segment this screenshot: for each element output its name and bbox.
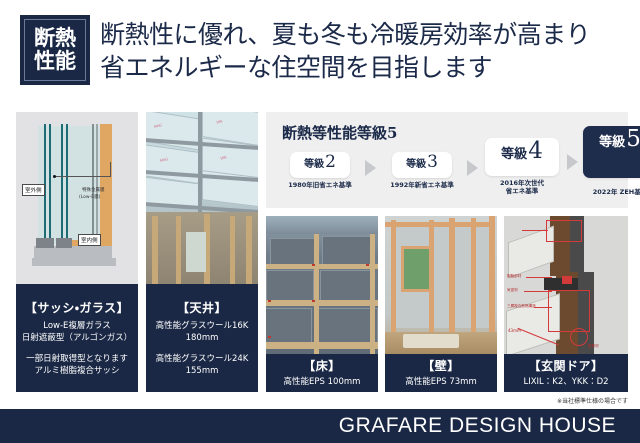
caption-floor: 【床】 高性能EPS 100mm <box>266 354 378 392</box>
entrance-door-diagram: 樹脂部材 気密材 三層複合断熱構造 43mm 断熱材 <box>504 216 628 354</box>
grade-chip-3: 等級 3 <box>392 152 452 178</box>
ceiling-photo-render: MAG 16K MAG 16K <box>146 112 258 284</box>
door-leader-resin <box>526 277 552 278</box>
floor-insulation-photo <box>266 216 378 354</box>
page-title: 断熱性に優れ、夏も冬も冷暖房効率が高まり 省エネルギーな住空間を目指します <box>100 18 630 84</box>
floor-slab-3 <box>266 270 314 302</box>
ceiling-joist-cross <box>198 112 202 212</box>
grade-arrow-1-icon <box>365 160 376 176</box>
brand-logo-text: GRAFARE DESIGN HOUSE <box>339 414 616 438</box>
caption-sash-glass: 【サッシ・ガラス】 Low-E複層ガラス日射遮蔽型（アルゴンガス） 一部日射取得… <box>16 284 138 392</box>
door-seal-block <box>544 278 578 290</box>
frame-hardware-1 <box>36 238 54 248</box>
ceiling-stud-2 <box>176 216 181 284</box>
grade-chip-4-number: 4 <box>528 138 543 164</box>
label-indoor-side: 室内側 <box>78 234 101 246</box>
grade-step-5: 等級 5 2022年 ZEH基準 <box>578 126 640 196</box>
floor-background-site <box>266 216 378 234</box>
grade-chip-5-number: 5 <box>626 126 640 152</box>
door-detail-box-bottom <box>548 290 590 332</box>
wall-photo-render <box>385 216 497 354</box>
wall-stud-3 <box>449 218 455 336</box>
card-ceiling: MAG 16K MAG 16K 【天井】 高性能グラスウール16K180mm 高… <box>146 112 258 392</box>
grade-step-3-caption: 1992年新省エネ基準 <box>380 181 464 189</box>
caption-floor-sub1: 高性能EPS 100mm <box>284 376 361 388</box>
floor-clip-3 <box>268 300 271 302</box>
grade-step-4: 等級 4 2016年次世代省エネ基準 <box>480 138 564 196</box>
grade-panel-title: 断熱等性能等級5 <box>282 122 397 143</box>
disclaimer-note: ※当社標準仕様の場合です <box>557 396 628 405</box>
grade-arrow-3-icon <box>567 154 578 170</box>
grade-step-5-caption: 2022年 ZEH基準 <box>578 188 640 196</box>
floor-clip-4 <box>268 336 271 338</box>
door-seal-marker <box>562 276 572 284</box>
label-lowe-coating: 特殊金属膜 <box>82 188 105 194</box>
caption-ceiling-title: 【天井】 <box>177 299 227 316</box>
ceiling-wall-patch <box>186 232 206 272</box>
caption-wall-title: 【壁】 <box>422 357 460 374</box>
card-floor: 【床】 高性能EPS 100mm <box>266 216 378 392</box>
page-header: 断熱 性能 断熱性に優れ、夏も冬も冷暖房効率が高まり 省エネルギーな住空間を目指… <box>0 0 640 98</box>
section-badge-line-2: 性能 <box>34 50 76 73</box>
coating-leader-vertical <box>110 162 111 177</box>
caption-ceiling: 【天井】 高性能グラスウール16K180mm 高性能グラスウール24K155mm <box>146 284 258 392</box>
page-footer: GRAFARE DESIGN HOUSE <box>0 409 640 443</box>
door-label-resin: 樹脂部材 <box>507 274 521 279</box>
wall-floor-sheet <box>403 334 459 348</box>
sash-cross-section-diagram: 室外側 室内側 特殊金属膜 (Low-E膜) <box>16 112 138 284</box>
caption-sash-title: 【サッシ・ガラス】 <box>25 299 129 316</box>
floor-clip-2 <box>312 300 315 302</box>
glass-pane-4 <box>66 124 68 246</box>
floor-beam-h3 <box>266 342 378 349</box>
section-badge-inner: 断熱 性能 <box>24 19 86 81</box>
wall-insulation-photo <box>385 216 497 354</box>
door-section-render: 樹脂部材 気密材 三層複合断熱構造 43mm 断熱材 <box>504 216 628 354</box>
headline-line-1: 断熱性に優れ、夏も冬も冷暖房効率が高まり <box>100 18 630 51</box>
grade-chip-2-number: 2 <box>325 152 336 172</box>
floor-slab-4 <box>320 270 374 302</box>
grade-chip-5-label: 等級 <box>599 131 625 150</box>
insulation-grade-panel: 断熱等性能等級5 等級 2 1980年旧省エネ基準 等級 3 1992年新省エネ… <box>266 112 628 208</box>
frame-base <box>32 258 116 266</box>
caption-door-sub1: LIXIL：K2、YKK：D2 <box>523 376 608 388</box>
door-label-airtight: 気密材 <box>507 288 518 293</box>
door-leader-triple <box>534 307 552 308</box>
headline-line-2: 省エネルギーな住空間を目指します <box>100 51 630 84</box>
grade-chip-5: 等級 5 <box>583 126 640 178</box>
floor-beam-h2 <box>266 300 378 306</box>
grade-step-2: 等級 2 1980年旧省エネ基準 <box>278 152 362 189</box>
wall-stud-4 <box>471 218 476 336</box>
coating-leader-line <box>56 176 110 177</box>
grade-step-4-caption: 2016年次世代省エネ基準 <box>480 179 564 196</box>
grade-chip-4-label: 等級 <box>501 143 527 162</box>
floor-slab-1 <box>270 238 316 266</box>
card-sash-glass: 室外側 室内側 特殊金属膜 (Low-E膜) 【サッシ・ガラス】 Low-E複層… <box>16 112 138 392</box>
grade-chip-2: 等級 2 <box>290 152 350 178</box>
caption-floor-title: 【床】 <box>303 357 341 374</box>
ceiling-insulation-photo: MAG 16K MAG 16K <box>146 112 258 284</box>
floor-slab-6 <box>318 308 378 344</box>
caption-entrance-door: 【玄関ドア】 LIXIL：K2、YKK：D2 <box>504 354 628 392</box>
label-lowe-coating-sub: (Low-E膜) <box>79 195 100 201</box>
ceiling-stud-5 <box>246 216 252 284</box>
floor-beam-v1 <box>314 234 319 354</box>
floor-beam-v2 <box>370 234 375 354</box>
wall-stud-2 <box>429 220 434 336</box>
wall-stud-5 <box>489 216 495 336</box>
glass-pane-6 <box>96 124 98 242</box>
section-badge-line-1: 断熱 <box>34 27 76 50</box>
caption-sash-sub1: Low-E複層ガラス日射遮蔽型（アルゴンガス） <box>22 320 132 345</box>
wall-stud-1 <box>391 220 396 336</box>
floor-slab-2 <box>322 236 372 266</box>
wall-top-plate <box>385 222 495 227</box>
caption-ceiling-sub1: 高性能グラスウール16K180mm <box>156 320 249 345</box>
ceiling-stud-4 <box>230 216 235 284</box>
grade-chip-2-label: 等級 <box>304 155 324 170</box>
section-badge: 断熱 性能 <box>20 15 90 85</box>
frame-hardware-2 <box>56 238 72 248</box>
door-leader-airtight <box>524 291 552 292</box>
window-section-drawing: 室外側 室内側 特殊金属膜 (Low-E膜) <box>16 112 138 284</box>
grade-arrow-2-icon <box>467 160 478 176</box>
floor-slab-5 <box>266 308 312 344</box>
caption-wall: 【壁】 高性能EPS 73mm <box>385 354 497 392</box>
door-label-triple: 三層複合断熱構造 <box>507 304 536 309</box>
door-detail-box-top <box>546 220 582 242</box>
caption-ceiling-sub2: 高性能グラスウール24K155mm <box>156 353 249 378</box>
grade-step-3: 等級 3 1992年新省エネ基準 <box>380 152 464 189</box>
card-wall: 【壁】 高性能EPS 73mm <box>385 216 497 392</box>
ceiling-stud-1 <box>152 216 158 284</box>
glass-pane-3 <box>61 124 63 246</box>
glass-pane-2 <box>49 124 51 246</box>
door-detail-circle <box>570 328 588 346</box>
glass-pane-5 <box>92 124 94 242</box>
floor-clip-5 <box>366 264 369 266</box>
floor-photo-render <box>266 216 378 354</box>
door-label-insulation: 断熱材 <box>588 344 599 349</box>
floor-beam-h1 <box>266 264 378 269</box>
resin-frame <box>100 124 112 246</box>
grade-chip-4: 等級 4 <box>485 138 559 176</box>
door-leader-top <box>522 230 548 231</box>
grade-chip-3-number: 3 <box>427 152 438 172</box>
floor-clip-1 <box>312 264 315 266</box>
grade-chip-3-label: 等級 <box>406 155 426 170</box>
card-entrance-door: 樹脂部材 気密材 三層複合断熱構造 43mm 断熱材 【玄関ドア】 LIXIL：… <box>504 216 628 392</box>
caption-door-title: 【玄関ドア】 <box>528 357 603 374</box>
caption-wall-sub1: 高性能EPS 73mm <box>405 376 476 388</box>
caption-sash-sub2: 一部日射取得型となりますアルミ樹脂複合サッシ <box>26 353 128 378</box>
label-outdoor-side: 室外側 <box>22 184 45 196</box>
grade-step-2-caption: 1980年旧省エネ基準 <box>278 181 362 189</box>
